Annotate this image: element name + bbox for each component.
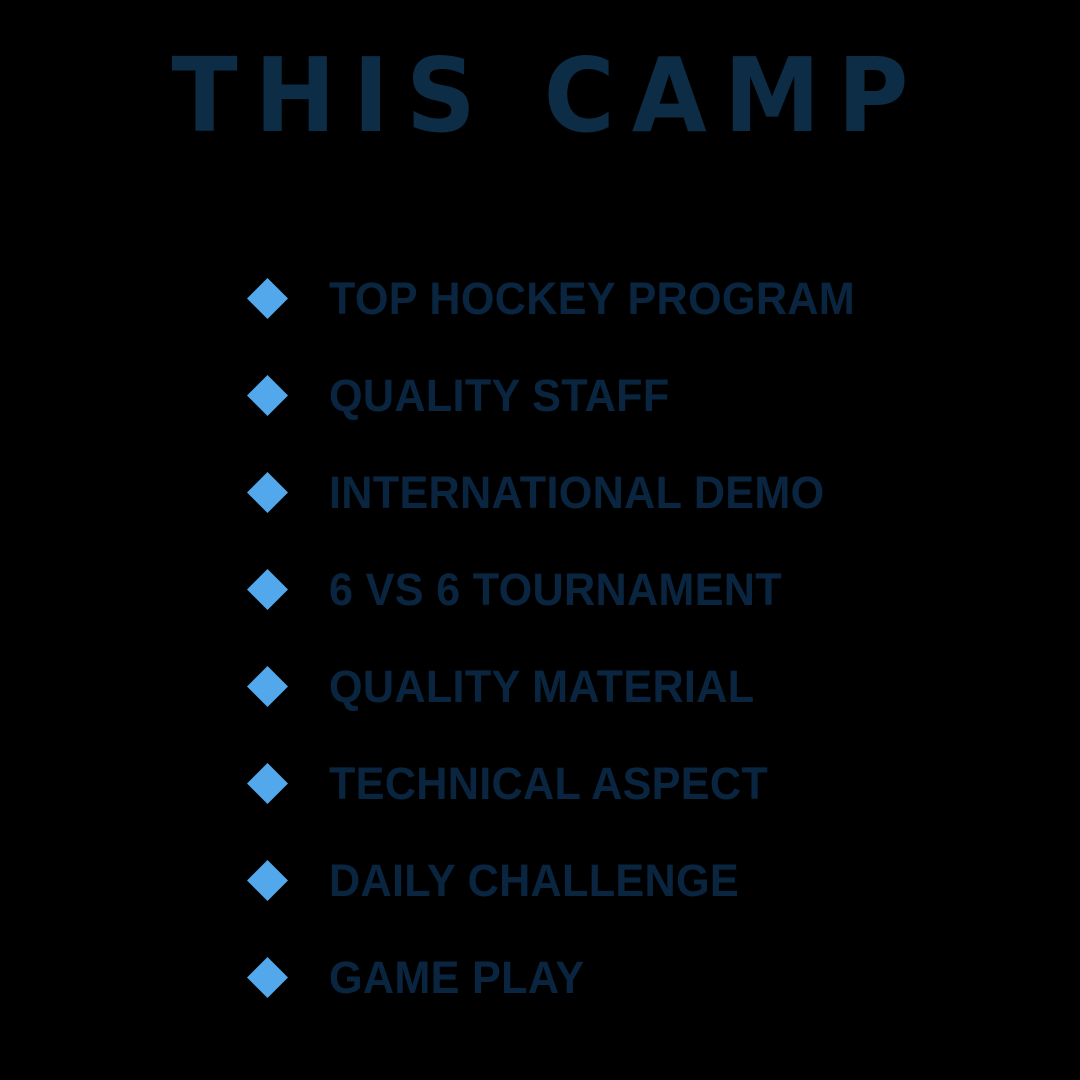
diamond-icon (247, 472, 288, 513)
page-title-block: THIS CAMP (0, 44, 1080, 141)
feature-label: DAILY CHALLENGE (329, 858, 739, 903)
feature-label: QUALITY MATERIAL (329, 664, 754, 709)
feature-label: TOP HOCKEY PROGRAM (329, 276, 855, 321)
list-item: 6 VS 6 TOURNAMENT (248, 541, 1008, 638)
diamond-icon (247, 278, 288, 319)
list-item: DAILY CHALLENGE (248, 832, 1008, 929)
diamond-icon (247, 957, 288, 998)
diamond-icon (247, 860, 288, 901)
feature-label: GAME PLAY (329, 955, 584, 1000)
list-item: QUALITY STAFF (248, 347, 1008, 444)
diamond-icon (247, 666, 288, 707)
camp-features-poster: THIS CAMP TOP HOCKEY PROGRAM QUALITY STA… (0, 0, 1080, 1080)
feature-label: INTERNATIONAL DEMO (329, 470, 825, 515)
feature-label: QUALITY STAFF (329, 373, 670, 418)
list-item: QUALITY MATERIAL (248, 638, 1008, 735)
feature-list: TOP HOCKEY PROGRAM QUALITY STAFF INTERNA… (248, 250, 1008, 1026)
list-item: INTERNATIONAL DEMO (248, 444, 1008, 541)
diamond-icon (247, 763, 288, 804)
list-item: GAME PLAY (248, 929, 1008, 1026)
list-item: TOP HOCKEY PROGRAM (248, 250, 1008, 347)
page-title: THIS CAMP (155, 44, 926, 147)
list-item: TECHNICAL ASPECT (248, 735, 1008, 832)
feature-label: TECHNICAL ASPECT (329, 761, 768, 806)
feature-label: 6 VS 6 TOURNAMENT (329, 567, 782, 612)
diamond-icon (247, 569, 288, 610)
diamond-icon (247, 375, 288, 416)
